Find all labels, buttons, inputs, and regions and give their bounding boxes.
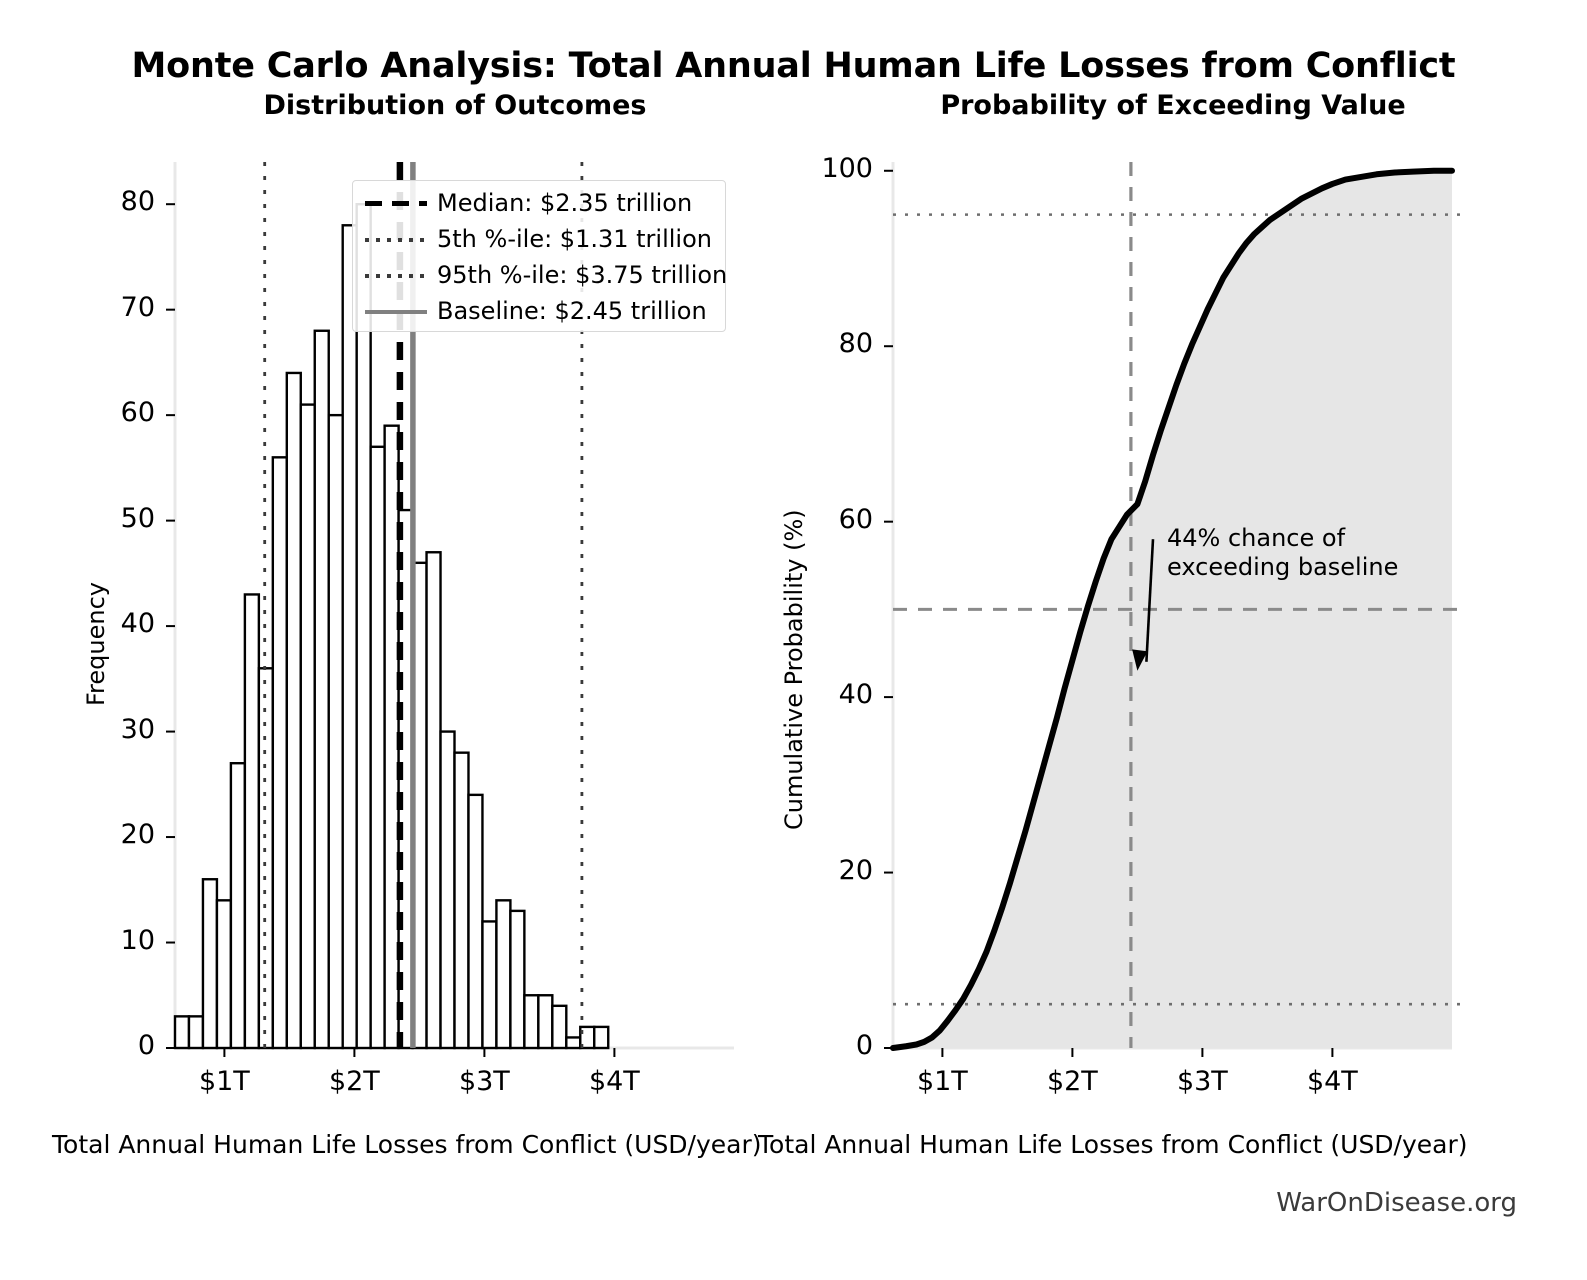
dotted-line-icon xyxy=(365,230,427,248)
right-x-axis-label: Total Annual Human Life Losses from Conf… xyxy=(758,1130,1468,1159)
y-tick-label: 20 xyxy=(763,855,873,886)
legend-item-p95: 95th %-ile: $3.75 trillion xyxy=(353,257,725,293)
x-tick-label: $1T xyxy=(882,1066,1002,1097)
dotted-line-icon xyxy=(365,266,427,284)
legend-label-p5: 5th %-ile: $1.31 trillion xyxy=(437,225,712,253)
dashed-line-icon xyxy=(365,194,427,212)
site-watermark: WarOnDisease.org xyxy=(1276,1188,1517,1218)
y-tick-label: 80 xyxy=(763,328,873,359)
cdf-annotation-label: 44% chance of exceeding baseline xyxy=(1167,524,1398,582)
x-tick-label: $3T xyxy=(1142,1066,1262,1097)
y-tick-label: 100 xyxy=(763,153,873,184)
x-tick-label: $4T xyxy=(1272,1066,1392,1097)
legend-item-baseline: Baseline: $2.45 trillion xyxy=(353,293,725,329)
legend-item-median: Median: $2.35 trillion xyxy=(353,185,725,221)
solid-line-icon xyxy=(365,302,427,320)
annotation-line-1: 44% chance of xyxy=(1167,524,1398,553)
x-tick-label: $2T xyxy=(1012,1066,1132,1097)
legend-label-median: Median: $2.35 trillion xyxy=(437,189,692,217)
legend-label-p95: 95th %-ile: $3.75 trillion xyxy=(437,261,727,289)
annotation-line-2: exceeding baseline xyxy=(1167,553,1398,582)
legend-label-baseline: Baseline: $2.45 trillion xyxy=(437,297,707,325)
y-tick-label: 0 xyxy=(763,1030,873,1061)
y-tick-label: 60 xyxy=(763,504,873,535)
legend-item-p5: 5th %-ile: $1.31 trillion xyxy=(353,221,725,257)
histogram-legend: Median: $2.35 trillion 5th %-ile: $1.31 … xyxy=(352,180,726,332)
y-tick-label: 40 xyxy=(763,679,873,710)
